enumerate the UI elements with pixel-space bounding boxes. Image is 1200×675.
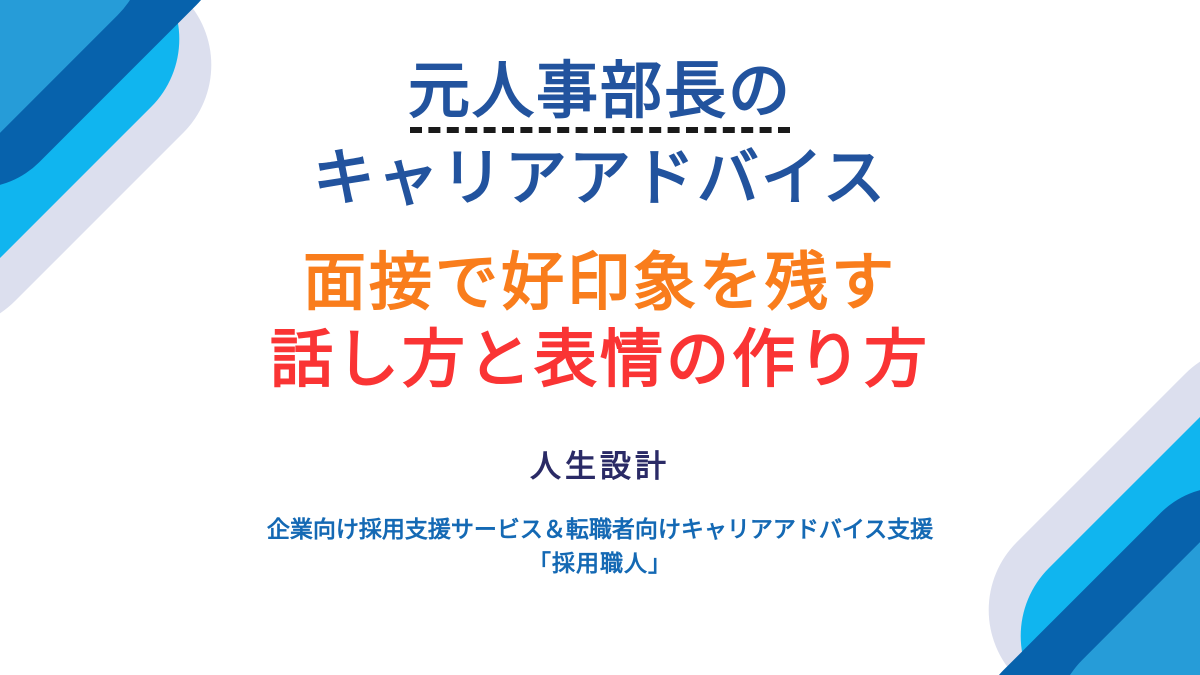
eyebrow-line1: 元人事部長の — [408, 58, 792, 125]
dashed-underline — [410, 127, 790, 133]
eyebrow-line1-wrapper: 元人事部長の — [408, 58, 792, 135]
credit-line-1: 企業向け採用支援サービス＆転職者向けキャリアアドバイス支援 — [267, 516, 933, 546]
footer-group: 人生設計 企業向け採用支援サービス＆転職者向けキャリアアドバイス支援 「採用職人… — [267, 449, 933, 580]
headline-group: 面接で好印象を残す 話し方と表情の作り方 — [270, 246, 930, 396]
headline-line1: 面接で好印象を残す — [303, 246, 897, 319]
slide-canvas: 元人事部長の キャリアアドバイス 面接で好印象を残す 話し方と表情の作り方 人生… — [0, 0, 1200, 675]
eyebrow-group: 元人事部長の キャリアアドバイス — [313, 58, 887, 212]
credit-line-2: 「採用職人」 — [528, 550, 672, 580]
series-label: 人生設計 — [530, 449, 670, 486]
slide-content: 元人事部長の キャリアアドバイス 面接で好印象を残す 話し方と表情の作り方 人生… — [0, 0, 1200, 675]
headline-line2: 話し方と表情の作り方 — [270, 323, 930, 396]
eyebrow-line2: キャリアアドバイス — [313, 143, 887, 212]
